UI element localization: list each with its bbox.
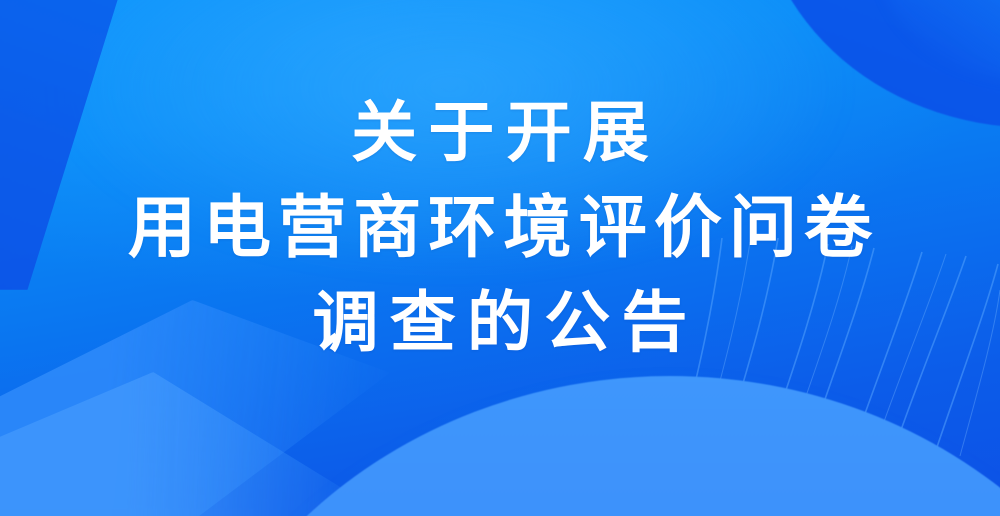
- lower-left-blade-accent-shape: [0, 372, 380, 516]
- headline-line-1: 关于开展: [0, 86, 1000, 180]
- headline-line-3: 调查的公告: [0, 276, 1000, 370]
- lower-left-dark-shape: [0, 400, 170, 516]
- headline-line-2: 用电营商环境评价问卷: [0, 180, 1000, 277]
- top-right-wedge-glow: [880, 0, 1000, 80]
- bottom-arc-shape: [160, 376, 1000, 516]
- headline-block: 关于开展 用电营商环境评价问卷 调查的公告: [0, 86, 1000, 370]
- announcement-banner: 关于开展 用电营商环境评价问卷 调查的公告: [0, 0, 1000, 516]
- bottom-arc-glow: [130, 366, 1000, 516]
